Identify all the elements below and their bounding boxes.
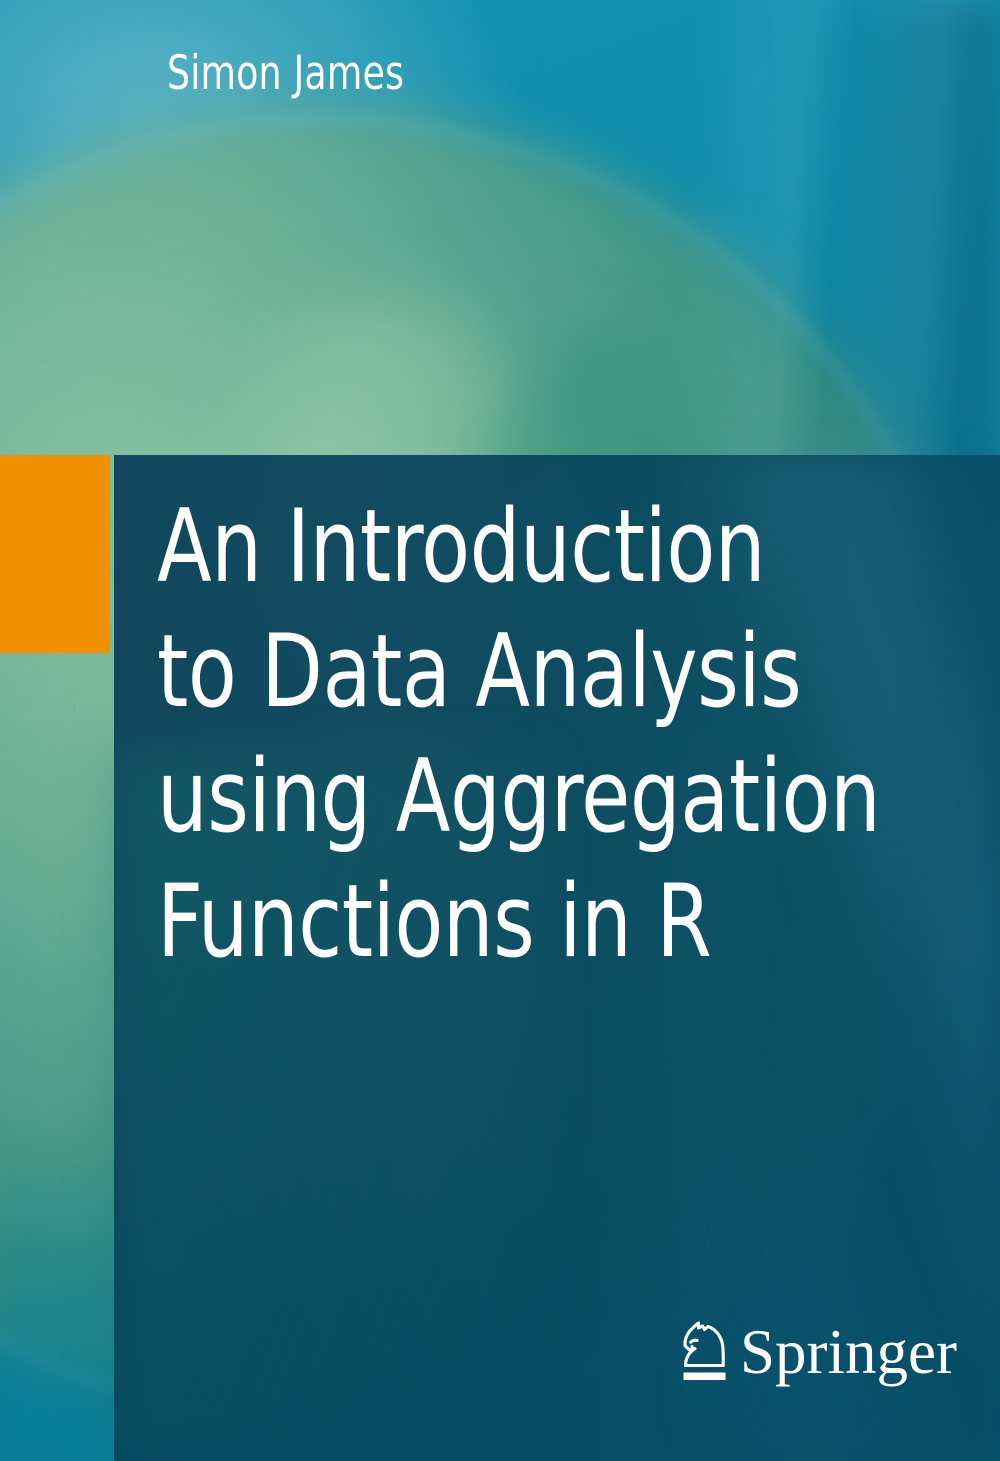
- springer-wordmark: Springer: [740, 1321, 957, 1384]
- title-line-4: Functions in R: [157, 859, 887, 984]
- title-line-3: using Aggregation: [157, 734, 887, 859]
- book-title: An Introduction to Data Analysis using A…: [157, 484, 987, 984]
- orange-accent-block: [0, 455, 110, 653]
- title-line-2: to Data Analysis: [157, 609, 887, 734]
- book-cover: Simon James An Introduction to Data Anal…: [0, 0, 1000, 1461]
- author-name: Simon James: [167, 50, 404, 97]
- title-line-1: An Introduction: [157, 484, 887, 609]
- publisher-logo: Springer: [676, 1313, 922, 1391]
- springer-knight-icon: [676, 1317, 734, 1387]
